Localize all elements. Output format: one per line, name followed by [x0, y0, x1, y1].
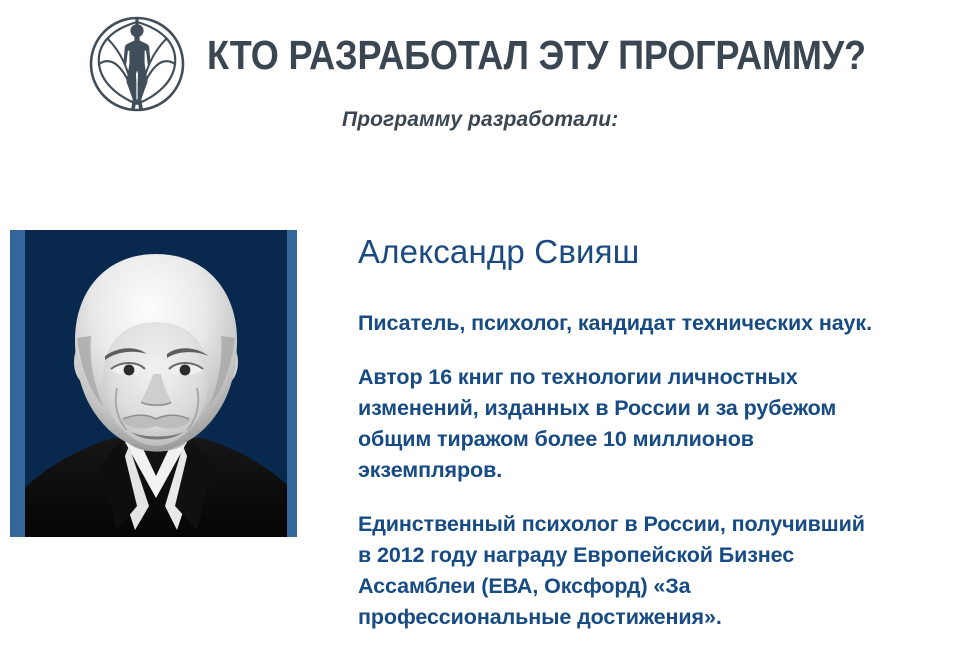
page-title: КТО РАЗРАБОТАЛ ЭТУ ПРОГРАММУ? [207, 30, 866, 80]
bio-paragraph-1: Писатель, психолог, кандидат технических… [358, 308, 958, 339]
bio-paragraph-2: Автор 16 книг по технологии личностных и… [358, 362, 868, 486]
bio-paragraph-3: Единственный психолог в России, получивш… [358, 509, 868, 633]
page-subtitle: Программу разработали: [342, 108, 618, 132]
page-header: КТО РАЗРАБОТАЛ ЭТУ ПРОГРАММУ? Программу … [0, 0, 976, 100]
author-bio: Александр Свияш Писатель, психолог, канд… [358, 232, 958, 633]
author-portrait-image [25, 230, 287, 537]
author-name: Александр Свияш [358, 232, 958, 272]
vitruvian-man-circle-icon [85, 12, 189, 116]
author-photo [10, 230, 297, 537]
